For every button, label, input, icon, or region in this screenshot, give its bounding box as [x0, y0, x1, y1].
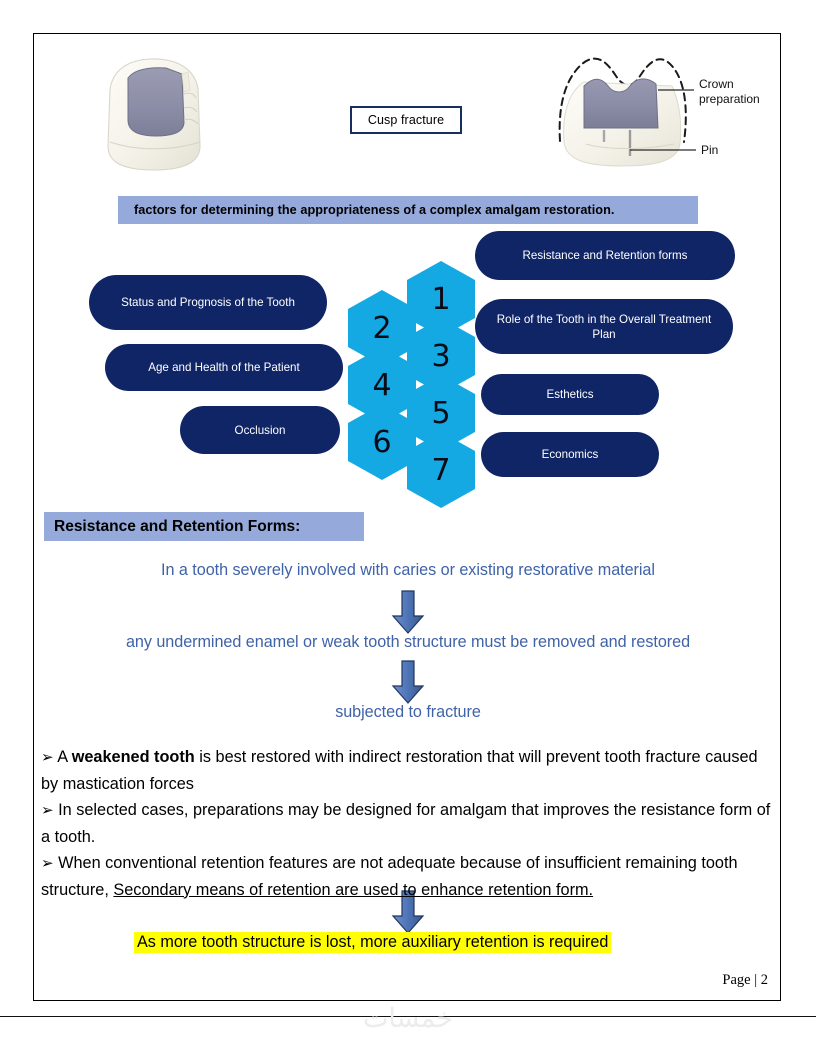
pill-role-of-tooth-label: Role of the Tooth in the Overall Treatme…: [491, 312, 717, 342]
hexagon-4-number: 4: [372, 368, 391, 403]
bullet-3-underlined: Secondary means of retention are used to…: [113, 881, 593, 899]
pill-economics: Economics: [481, 432, 659, 477]
hexagon-5-number: 5: [431, 396, 450, 431]
pill-occlusion: Occlusion: [180, 406, 340, 454]
flow-statement-2: any undermined enamel or weak tooth stru…: [0, 633, 816, 652]
conclusion-highlight: As more tooth structure is lost, more au…: [134, 932, 611, 953]
pill-esthetics: Esthetics: [481, 374, 659, 415]
bullet-2-text: In selected cases, preparations may be d…: [41, 801, 770, 846]
bullet-1-bold: weakened tooth: [72, 748, 195, 766]
conclusion-text: As more tooth structure is lost, more au…: [137, 933, 608, 951]
pin-label: Pin: [701, 143, 718, 157]
factors-banner: factors for determining the appropriaten…: [118, 196, 698, 224]
watermark-text: خمسات: [0, 1003, 816, 1034]
down-arrow-icon-1: [391, 590, 425, 634]
hexagon-2-number: 2: [372, 311, 391, 346]
cusp-fracture-label: Cusp fracture: [350, 106, 462, 134]
crown-preparation-pin-illustration: Crown preparation Pin: [546, 46, 766, 181]
page-number-text: Page | 2: [722, 972, 768, 988]
flow-statement-3: subjected to fracture: [0, 703, 816, 722]
bullet-item-2: ➢ In selected cases, preparations may be…: [41, 797, 771, 850]
flow-statement-1: In a tooth severely involved with caries…: [0, 561, 816, 580]
hexagon-6-number: 6: [372, 425, 391, 460]
bullet-1-pre: A: [54, 748, 72, 766]
section-heading-resistance-retention: Resistance and Retention Forms:: [44, 512, 364, 541]
pill-esthetics-label: Esthetics: [546, 387, 593, 402]
pill-resistance-retention-forms-label: Resistance and Retention forms: [523, 248, 688, 263]
pill-resistance-retention-forms: Resistance and Retention forms: [475, 231, 735, 280]
pill-occlusion-label: Occlusion: [235, 423, 286, 438]
bullet-marker-3: ➢: [41, 854, 54, 872]
pill-age-health-label: Age and Health of the Patient: [148, 360, 299, 375]
pill-age-health: Age and Health of the Patient: [105, 344, 343, 391]
bullet-item-1: ➢ A weakened tooth is best restored with…: [41, 744, 771, 797]
crown-label-line2: preparation: [699, 92, 760, 106]
bullet-marker-1: ➢: [41, 748, 54, 766]
page-number: Page | 2: [722, 972, 768, 989]
section-heading-text: Resistance and Retention Forms:: [54, 518, 300, 536]
pill-economics-label: Economics: [542, 447, 599, 462]
pill-status-prognosis-label: Status and Prognosis of the Tooth: [121, 295, 295, 310]
cusp-fracture-tooth-illustration: [88, 50, 216, 178]
hexagon-7-number: 7: [431, 453, 450, 488]
flow-statement-1-text: In a tooth severely involved with caries…: [161, 561, 655, 579]
crown-label-line1: Crown: [699, 77, 734, 91]
pill-role-of-tooth: Role of the Tooth in the Overall Treatme…: [475, 299, 733, 354]
bullet-marker-2: ➢: [41, 801, 54, 819]
down-arrow-icon-2: [391, 660, 425, 704]
flow-statement-3-text: subjected to fracture: [335, 703, 481, 721]
hexagon-1-number: 1: [431, 282, 450, 317]
factors-banner-text: factors for determining the appropriaten…: [134, 203, 614, 217]
flow-statement-2-text: any undermined enamel or weak tooth stru…: [126, 633, 690, 651]
bullet-list: ➢ A weakened tooth is best restored with…: [41, 744, 771, 903]
hexagon-3-number: 3: [431, 339, 450, 374]
cusp-fracture-text: Cusp fracture: [368, 113, 444, 127]
pill-status-prognosis: Status and Prognosis of the Tooth: [89, 275, 327, 330]
bullet-item-3: ➢ When conventional retention features a…: [41, 850, 771, 903]
